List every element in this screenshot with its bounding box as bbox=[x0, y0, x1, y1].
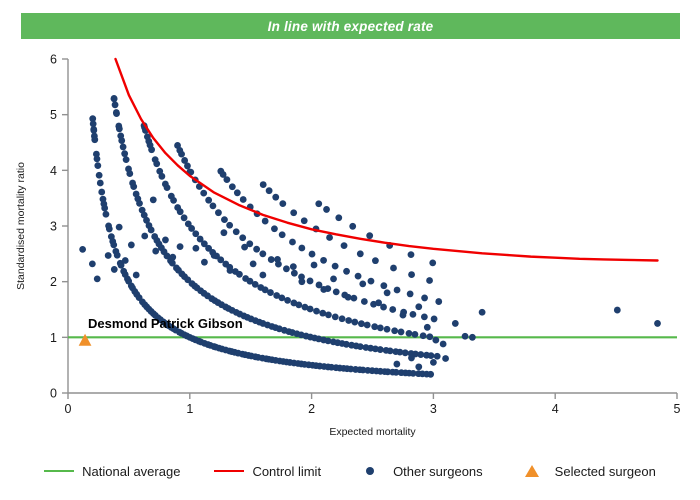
selected-surgeon-marker[interactable]: Desmond Patrick Gibson bbox=[79, 316, 243, 346]
legend-label: National average bbox=[82, 464, 180, 479]
svg-text:1: 1 bbox=[50, 331, 57, 345]
svg-text:0: 0 bbox=[50, 387, 57, 401]
chart-canvas: 0123456012345 Desmond Patrick Gibson Exp… bbox=[0, 0, 700, 500]
chart-legend: National average Control limit Other sur… bbox=[0, 455, 700, 487]
svg-text:2: 2 bbox=[50, 275, 57, 289]
control-limit-curve bbox=[116, 59, 658, 261]
triangle-marker-icon bbox=[525, 465, 539, 477]
circle-marker-icon bbox=[366, 467, 374, 475]
svg-text:3: 3 bbox=[430, 402, 437, 416]
svg-text:5: 5 bbox=[50, 108, 57, 122]
legend-item-selected-surgeon[interactable]: Selected surgeon bbox=[517, 464, 656, 479]
svg-text:5: 5 bbox=[674, 402, 681, 416]
legend-label: Selected surgeon bbox=[555, 464, 656, 479]
selected-surgeon-label: Desmond Patrick Gibson bbox=[88, 316, 243, 331]
legend-item-other-surgeons[interactable]: Other surgeons bbox=[355, 464, 483, 479]
svg-text:0: 0 bbox=[65, 402, 72, 416]
line-swatch-icon bbox=[44, 470, 74, 472]
svg-text:2: 2 bbox=[308, 402, 315, 416]
svg-text:Expected mortality: Expected mortality bbox=[329, 426, 416, 438]
legend-item-control-limit[interactable]: Control limit bbox=[214, 464, 321, 479]
svg-text:4: 4 bbox=[50, 164, 57, 178]
svg-text:1: 1 bbox=[186, 402, 193, 416]
svg-text:3: 3 bbox=[50, 220, 57, 234]
other-surgeons-points bbox=[79, 95, 661, 378]
svg-text:6: 6 bbox=[50, 53, 57, 67]
funnel-plot-page: In line with expected rate 0123456012345… bbox=[0, 0, 700, 500]
svg-text:4: 4 bbox=[552, 402, 559, 416]
line-swatch-icon bbox=[214, 470, 244, 472]
legend-label: Other surgeons bbox=[393, 464, 483, 479]
funnel-plot-svg: 0123456012345 Desmond Patrick Gibson Exp… bbox=[0, 0, 700, 460]
legend-label: Control limit bbox=[252, 464, 321, 479]
svg-text:Standardised mortality ratio: Standardised mortality ratio bbox=[15, 162, 27, 290]
legend-item-national-average[interactable]: National average bbox=[44, 464, 180, 479]
